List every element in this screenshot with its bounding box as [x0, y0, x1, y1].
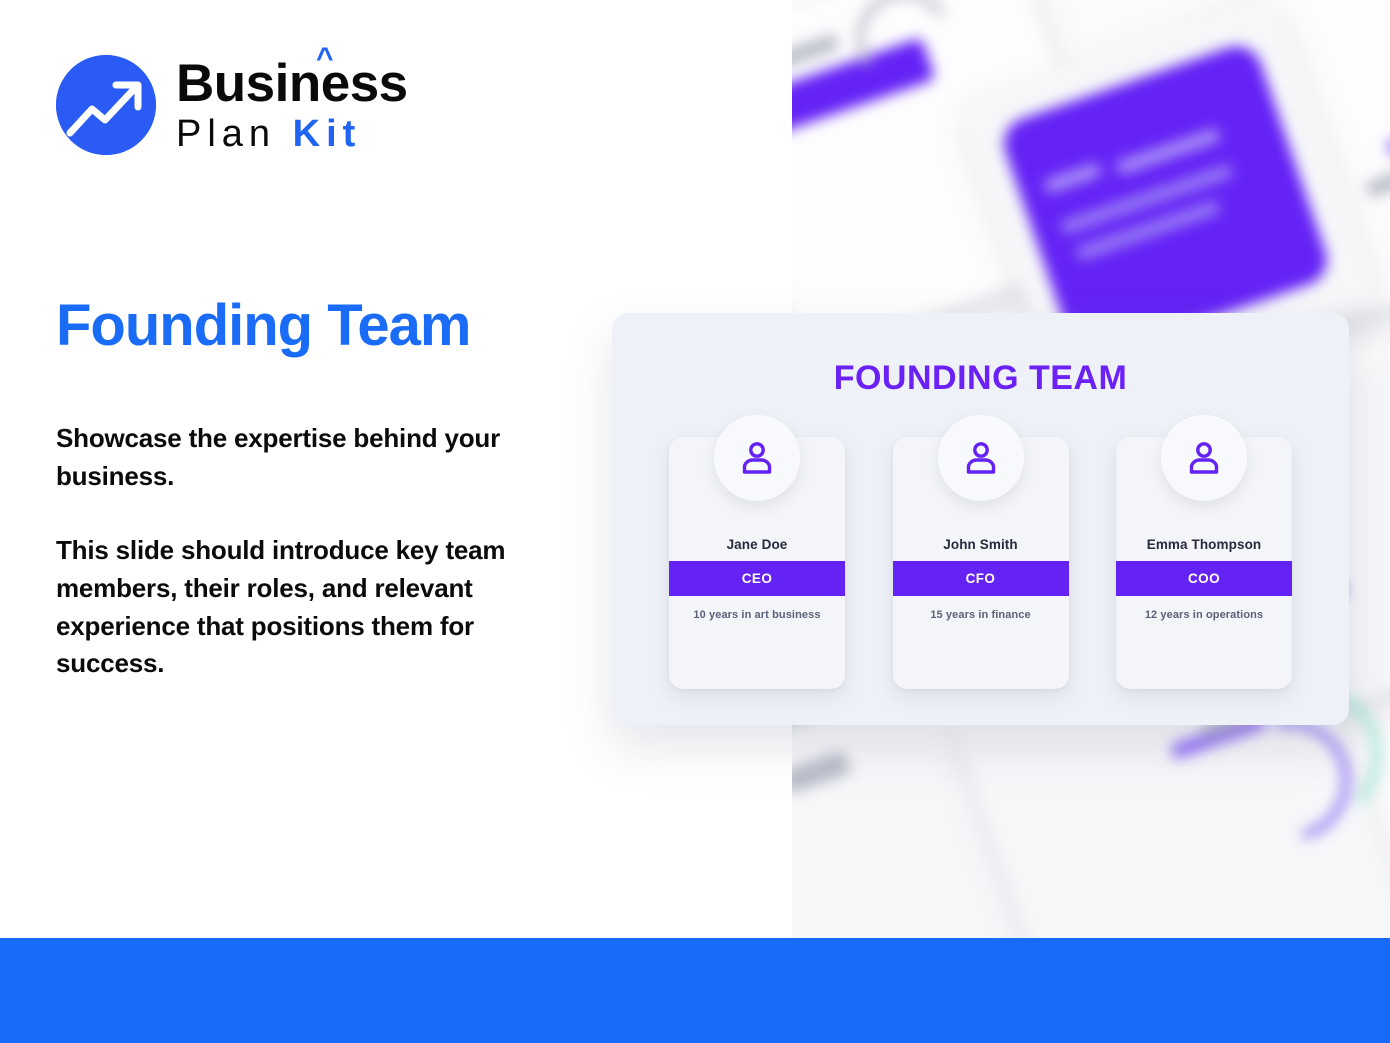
bg-chip — [792, 750, 851, 794]
team-member-experience: 15 years in finance — [893, 609, 1069, 621]
team-member-card[interactable]: Jane Doe CEO 10 years in art business — [669, 437, 845, 689]
team-member-role-badge: COO — [1116, 561, 1292, 596]
brand-name-line2: Plan Kit — [176, 115, 408, 153]
team-member-name: John Smith — [893, 537, 1069, 552]
brand-wordmark: Business ^ Plan Kit — [176, 57, 408, 153]
description-paragraph-2: This slide should introduce key team mem… — [56, 532, 576, 683]
bg-chip — [1043, 162, 1102, 193]
team-member-role-badge: CEO — [669, 561, 845, 596]
description-paragraph-1: Showcase the expertise behind your busin… — [56, 420, 576, 495]
team-member-name: Emma Thompson — [1116, 537, 1292, 552]
team-member-name: Jane Doe — [669, 537, 845, 552]
avatar — [938, 415, 1024, 501]
brand-logo: Business ^ Plan Kit — [56, 55, 408, 155]
slide-preview-panel[interactable]: FOUNDING TEAM Jane Doe CEO 10 years in a… — [612, 313, 1349, 725]
avatar — [1161, 415, 1247, 501]
description-block: Showcase the expertise behind your busin… — [56, 420, 576, 683]
brand-name-line1-text: Business — [176, 54, 408, 113]
circumflex-accent-icon: ^ — [316, 44, 333, 75]
team-member-card[interactable]: Emma Thompson COO 12 years in operations — [1116, 437, 1292, 689]
growth-arrow-circle-icon — [56, 55, 156, 155]
brand-name-line1: Business ^ — [176, 57, 408, 111]
team-member-experience: 12 years in operations — [1116, 609, 1292, 621]
bg-chip — [1365, 161, 1390, 198]
slide-preview-title: FOUNDING TEAM — [612, 359, 1349, 398]
page-title: Founding Team — [56, 296, 470, 357]
team-members-row: Jane Doe CEO 10 years in art business Jo… — [669, 437, 1292, 689]
bg-dot-purple — [1385, 137, 1390, 157]
team-member-role-badge: CFO — [893, 561, 1069, 596]
person-icon — [961, 438, 1001, 478]
footer-bar — [0, 938, 1390, 1043]
team-member-experience: 10 years in art business — [669, 609, 845, 621]
person-icon — [1184, 438, 1224, 478]
avatar — [714, 415, 800, 501]
brand-name-plan: Plan — [176, 113, 276, 155]
bg-chip — [1115, 128, 1221, 175]
team-member-card[interactable]: John Smith CFO 15 years in finance — [893, 437, 1069, 689]
person-icon — [737, 438, 777, 478]
slide-canvas: Business ^ Plan Kit Founding Team Showca… — [0, 0, 1390, 1043]
brand-name-kit: Kit — [293, 113, 362, 155]
